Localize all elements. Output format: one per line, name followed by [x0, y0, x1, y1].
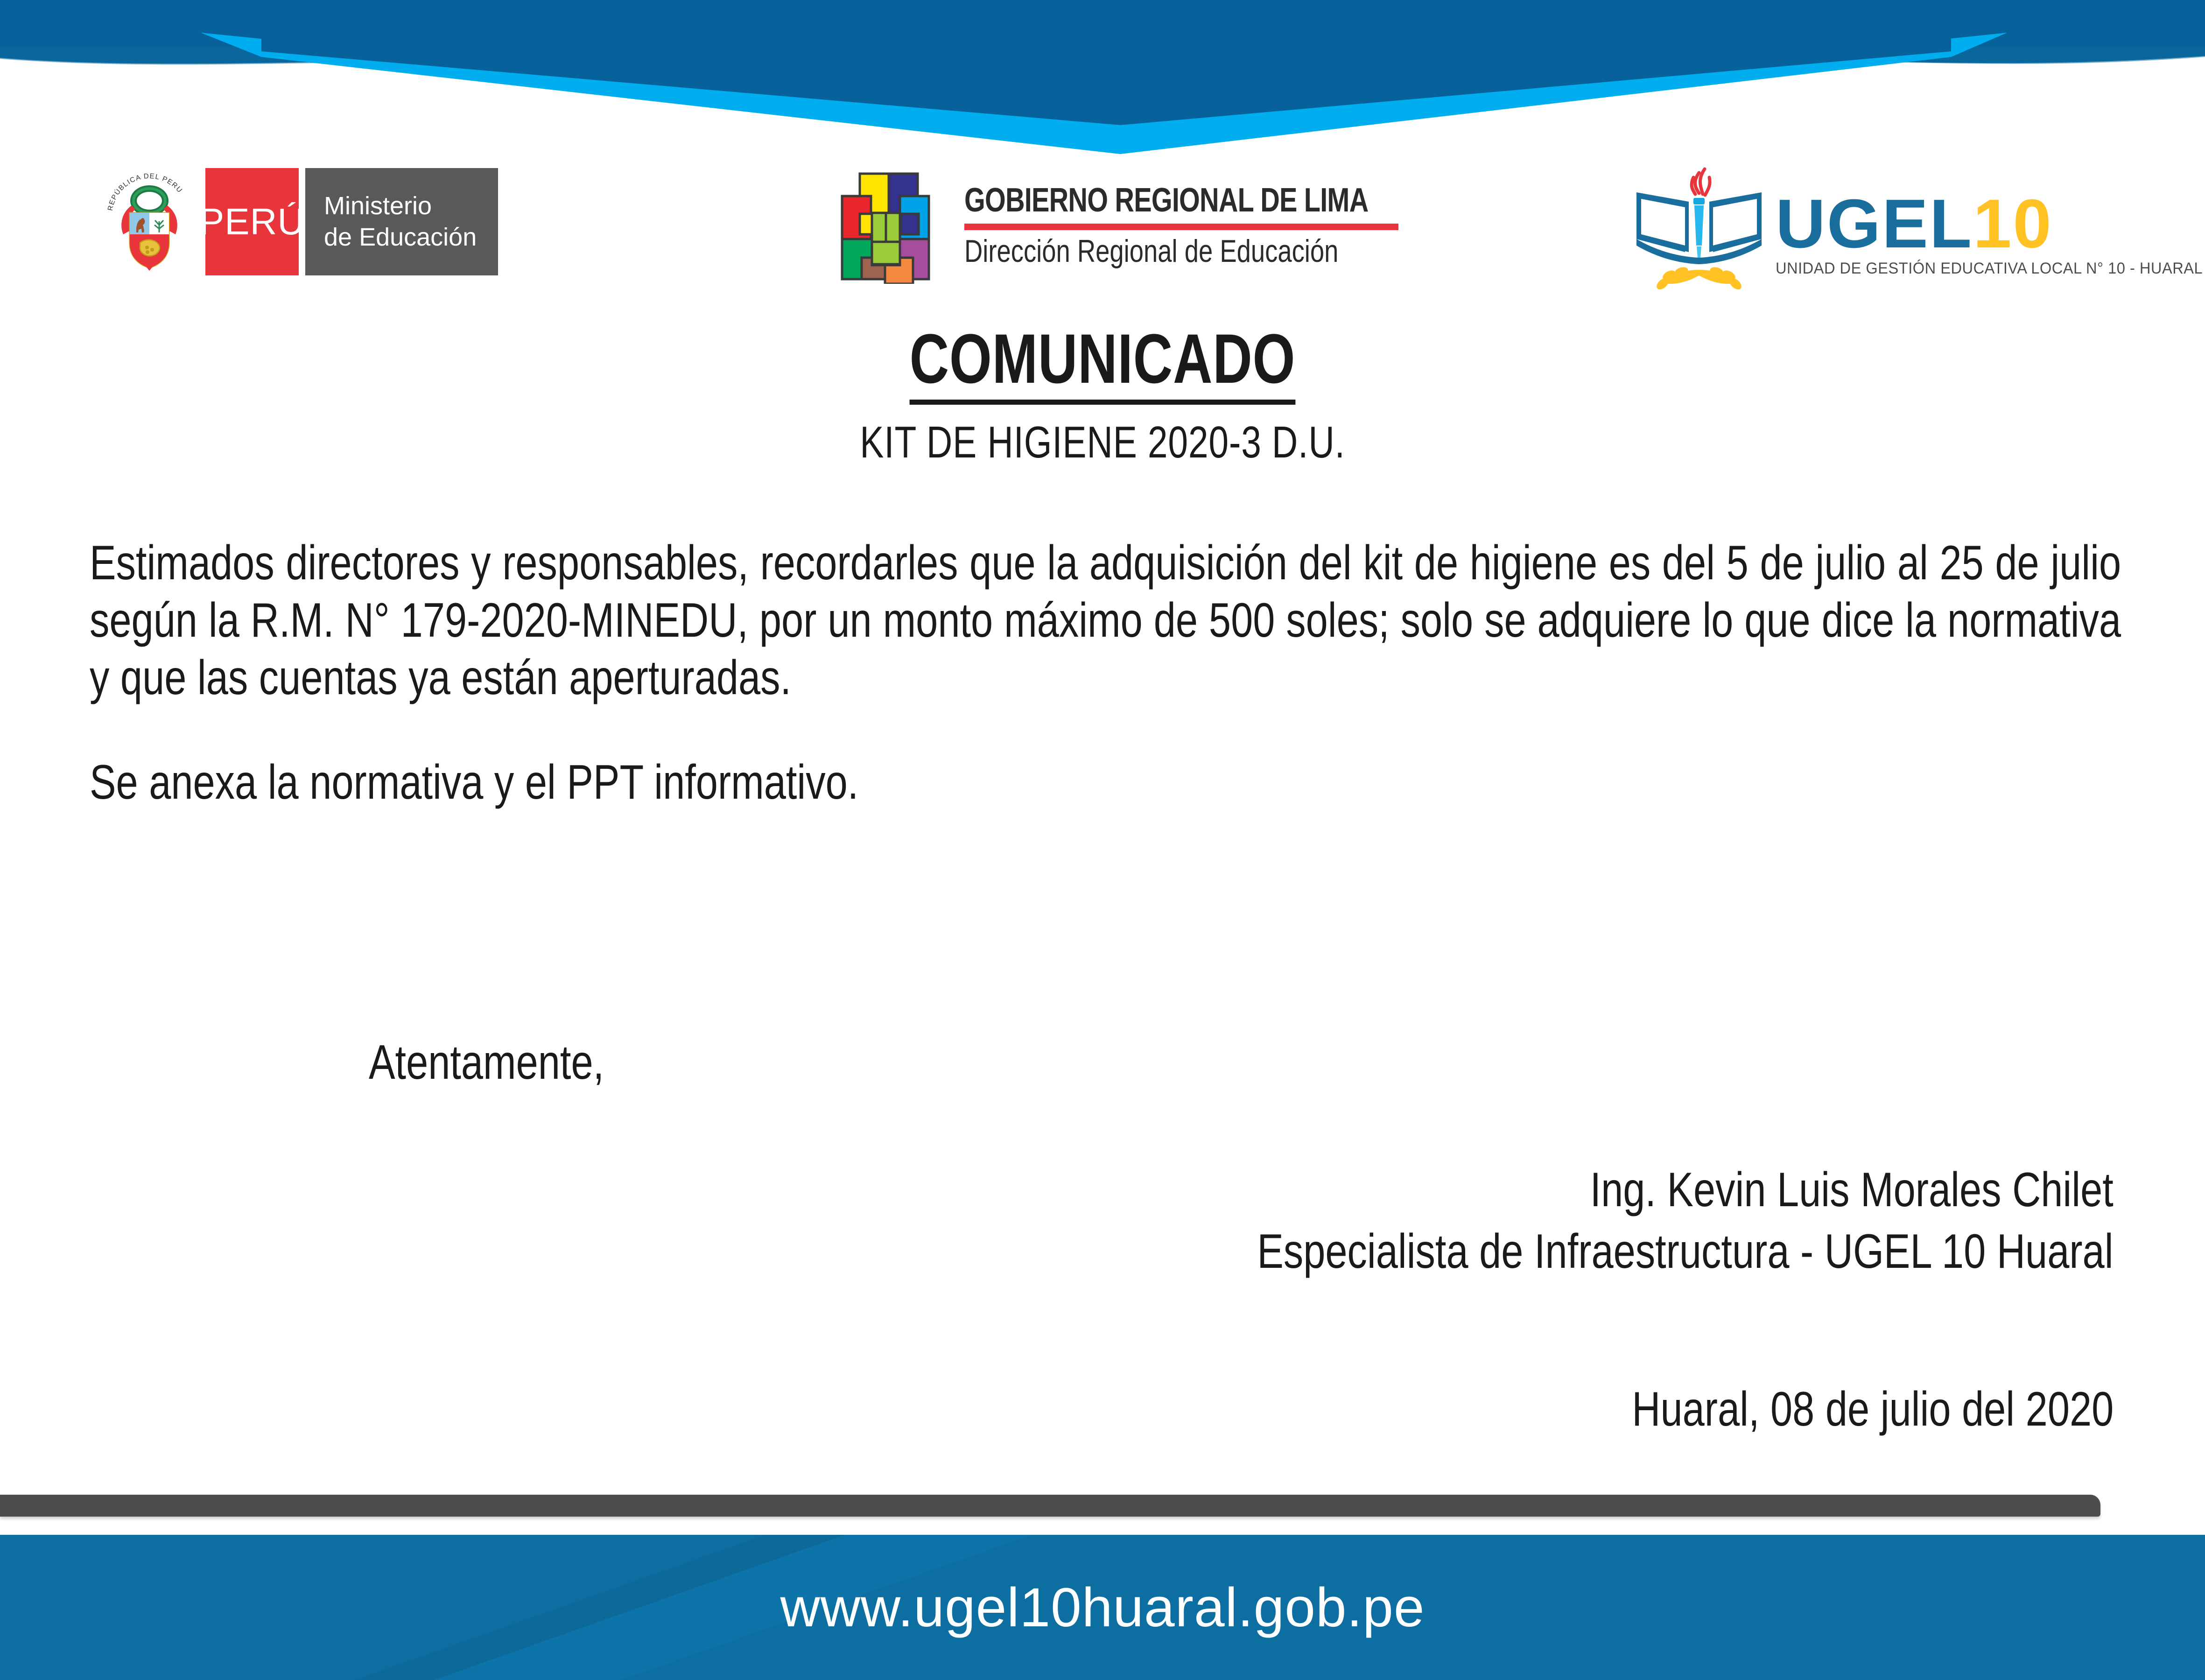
header-dark-v-shape — [261, 0, 1951, 125]
gobierno-regional-title: GOBIERNO REGIONAL DE LIMA — [964, 183, 1368, 218]
ugel-book-torch-icon — [1629, 159, 1769, 294]
ugel-wordmark-number: 10 — [1973, 185, 2053, 262]
header-wave-svg — [0, 0, 2205, 154]
footer-gray-bar — [0, 1495, 2100, 1517]
footer-band: www.ugel10huaral.gob.pe — [0, 1535, 2205, 1680]
peru-label-block: PERÚ — [205, 168, 299, 275]
document-date: Huaral, 08 de julio del 2020 — [1632, 1381, 2114, 1438]
peru-label: PERÚ — [199, 200, 305, 243]
peru-shield-icon: REPÚBLICA DEL PERU — [103, 173, 196, 271]
logo-minedu: REPÚBLICA DEL PERU — [93, 168, 498, 275]
gobierno-regional-subtitle: Dirección Regional de Educación — [964, 235, 1368, 268]
title-block: COMUNICADO KIT DE HIGIENE 2020-3 D.U. — [0, 322, 2205, 468]
ugel-text-block: UGEL10 UNIDAD DE GESTIÓN EDUCATIVA LOCAL… — [1776, 159, 2205, 278]
ministry-line-2: de Educación — [324, 222, 477, 253]
signatory-role-line: Especialista de Infraestructura - UGEL 1… — [0, 1223, 2205, 1280]
signatory-role: Especialista de Infraestructura - UGEL 1… — [1257, 1223, 2114, 1280]
footer-url-line: www.ugel10huaral.gob.pe — [0, 1535, 2205, 1680]
logo-divider — [299, 168, 305, 275]
logo-ugel-10: UGEL10 UNIDAD DE GESTIÓN EDUCATIVA LOCAL… — [1629, 159, 2205, 294]
signature-block: Atentamente, Ing. Kevin Luis Morales Chi… — [0, 1034, 2205, 1438]
body-paragraph-1: Estimados directores y responsables, rec… — [90, 534, 2121, 707]
ministry-line-1: Ministerio — [324, 190, 477, 222]
ugel-wordmark: UGEL10 — [1776, 192, 2205, 256]
closing-salutation: Atentamente, — [369, 1034, 1865, 1091]
ministry-label-block: Ministerio de Educación — [305, 168, 498, 275]
logo-strip: REPÚBLICA DEL PERU — [0, 154, 2205, 308]
header-decoration — [0, 0, 2205, 154]
ugel-subtitle: UNIDAD DE GESTIÓN EDUCATIVA LOCAL N° 10 … — [1776, 260, 2203, 278]
logo-gobierno-regional-lima: GOBIERNO REGIONAL DE LIMA Dirección Regi… — [836, 167, 1469, 284]
gobierno-regional-text: GOBIERNO REGIONAL DE LIMA Dirección Regi… — [964, 183, 1469, 268]
ugel-wordmark-primary: UGEL — [1776, 185, 1973, 262]
website-url[interactable]: www.ugel10huaral.gob.pe — [780, 1576, 1425, 1639]
gobierno-regional-mosaic-icon — [836, 167, 952, 284]
page-title: COMUNICADO — [910, 322, 1296, 405]
peru-coat-of-arms: REPÚBLICA DEL PERU — [93, 168, 205, 275]
document-date-line: Huaral, 08 de julio del 2020 — [0, 1381, 2205, 1438]
gobierno-regional-rule — [964, 224, 1398, 230]
signatory-name-line: Ing. Kevin Luis Morales Chilet — [0, 1161, 2205, 1219]
body-paragraph-2: Se anexa la normativa y el PPT informati… — [90, 754, 2121, 811]
page-subtitle: KIT DE HIGIENE 2020-3 D.U. — [220, 417, 1984, 468]
document-body: Estimados directores y responsables, rec… — [90, 534, 2120, 811]
signatory-name: Ing. Kevin Luis Morales Chilet — [1590, 1161, 2114, 1219]
